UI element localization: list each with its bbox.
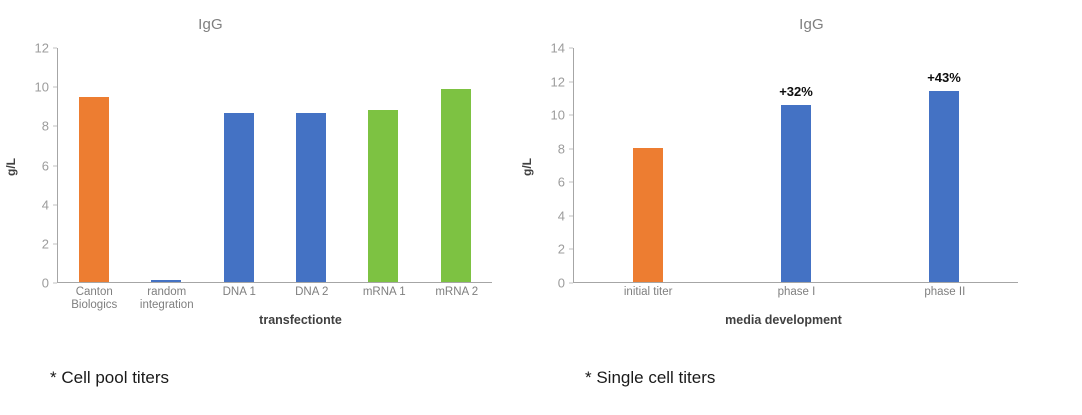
x-axis-tick-label: DNA 2	[276, 286, 349, 312]
y-axis-tick-mark	[569, 249, 573, 250]
x-axis-tick-line: Canton	[58, 286, 131, 299]
x-axis-line	[573, 282, 1018, 283]
y-axis-tick-mark	[53, 165, 57, 166]
chart-caption: * Cell pool titers	[50, 368, 169, 388]
x-axis-tick-line: DNA 2	[276, 286, 349, 299]
bar[interactable]	[441, 89, 471, 282]
bar-slot	[203, 48, 275, 282]
x-axis-tick-label: CantonBiologics	[58, 286, 131, 312]
plot-area: 02468101214 +32%+43%	[573, 48, 1018, 283]
chart-caption: * Single cell titers	[585, 368, 715, 388]
y-axis-tick-mark	[569, 115, 573, 116]
x-axis-label: transfectionte	[30, 313, 571, 327]
y-axis-tick-mark	[569, 48, 573, 49]
bar-slot	[574, 48, 722, 282]
bar[interactable]	[633, 148, 663, 282]
bar-slot	[275, 48, 347, 282]
bar-slot	[58, 48, 130, 282]
x-axis-ticks: CantonBiologicsrandomintegrationDNA 1DNA…	[58, 286, 493, 312]
bar[interactable]	[296, 113, 326, 282]
x-axis-tick-line: phase I	[722, 286, 870, 299]
bar[interactable]	[224, 113, 254, 282]
bar[interactable]	[79, 97, 109, 282]
x-axis-tick-line: initial titer	[574, 286, 722, 299]
bar[interactable]: +43%	[929, 91, 959, 282]
x-axis-tick-line: random	[131, 286, 204, 299]
y-axis-label: g/L	[4, 158, 18, 176]
bar[interactable]	[151, 280, 181, 282]
y-axis-tick-mark	[569, 215, 573, 216]
bar-data-label: +32%	[779, 84, 813, 99]
x-axis-tick-label: initial titer	[574, 286, 722, 299]
bar-series: +32%+43%	[574, 48, 1018, 282]
x-axis-tick-label: mRNA 2	[421, 286, 494, 312]
bar-slot: +32%	[722, 48, 870, 282]
bar-slot	[347, 48, 419, 282]
x-axis-label: media development	[561, 313, 1006, 327]
y-axis-tick-mark	[53, 87, 57, 88]
y-axis-tick-mark	[53, 204, 57, 205]
x-axis-tick-label: DNA 1	[203, 286, 276, 312]
y-axis-tick-mark	[569, 182, 573, 183]
x-axis-tick-line: integration	[131, 299, 204, 312]
y-axis-tick-mark	[569, 148, 573, 149]
x-axis-tick-label: randomintegration	[131, 286, 204, 312]
y-axis-label: g/L	[520, 158, 534, 176]
y-axis-tick-mark	[53, 126, 57, 127]
x-axis-tick-label: phase II	[871, 286, 1019, 299]
y-axis-tick-mark	[53, 243, 57, 244]
chart-title: IgG	[541, 16, 1082, 33]
x-axis-line	[57, 282, 492, 283]
chart-panel-cell-pool-titers: IgG g/L 024681012 CantonBiologicsrandomi…	[0, 0, 541, 415]
y-axis-tick-mark	[569, 283, 573, 284]
x-axis-tick-label: mRNA 1	[348, 286, 421, 312]
bar[interactable]	[368, 110, 398, 282]
bar-slot	[130, 48, 202, 282]
x-axis-tick-line: DNA 1	[203, 286, 276, 299]
x-axis-tick-line: Biologics	[58, 299, 131, 312]
bar-slot	[420, 48, 492, 282]
x-axis-tick-line: mRNA 2	[421, 286, 494, 299]
plot-area: 024681012	[57, 48, 492, 283]
x-axis-tick-line: phase II	[871, 286, 1019, 299]
bar-slot: +43%	[870, 48, 1018, 282]
chart-title: IgG	[0, 16, 481, 33]
x-axis-tick-line: mRNA 1	[348, 286, 421, 299]
bar[interactable]: +32%	[781, 105, 811, 282]
bar-data-label: +43%	[927, 70, 961, 85]
y-axis-tick-mark	[53, 48, 57, 49]
bar-series	[58, 48, 492, 282]
y-axis-tick-mark	[53, 283, 57, 284]
y-axis-tick-mark	[569, 81, 573, 82]
charts-page: IgG g/L 024681012 CantonBiologicsrandomi…	[0, 0, 1082, 415]
x-axis-tick-label: phase I	[722, 286, 870, 299]
x-axis-ticks: initial titerphase Iphase II	[574, 286, 1019, 299]
